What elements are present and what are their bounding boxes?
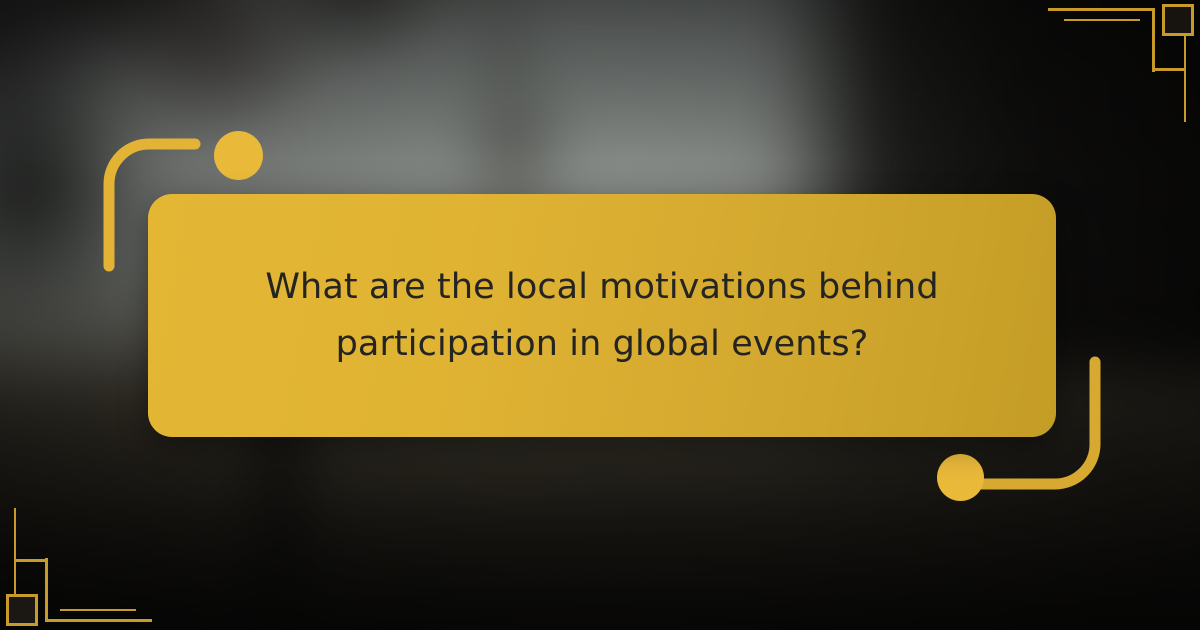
question-card: What are the local motivations behind pa… [148,194,1056,437]
gold-dot-top-icon [214,131,263,180]
question-card-stage: What are the local motivations behind pa… [0,0,1200,630]
gold-dot-bottom-icon [937,454,984,501]
question-text: What are the local motivations behind pa… [252,259,952,372]
